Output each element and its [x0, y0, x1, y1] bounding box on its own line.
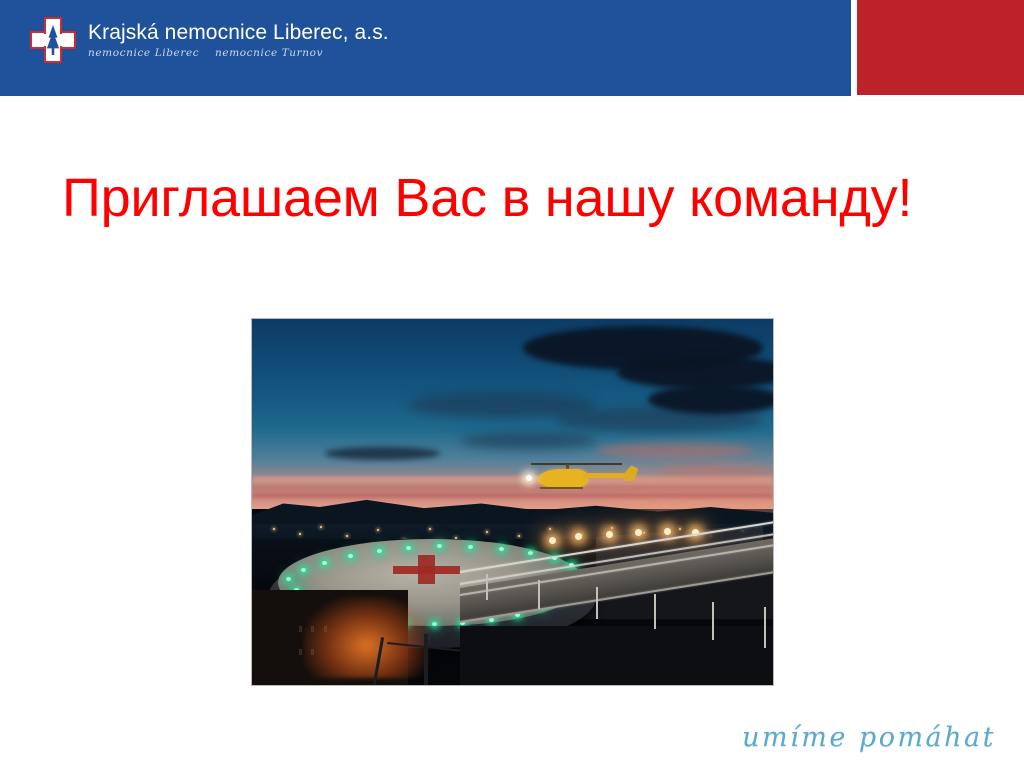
railing-post — [654, 594, 656, 629]
city-light — [320, 526, 322, 528]
helipad-red-cross-marking — [393, 555, 461, 584]
building-window — [299, 649, 302, 655]
city-light — [679, 528, 681, 530]
railing-post — [712, 602, 714, 640]
city-light — [273, 528, 275, 530]
photo-canvas — [252, 319, 773, 685]
header-red-block — [857, 0, 1024, 95]
city-light — [518, 535, 520, 537]
helipad-photo — [251, 318, 774, 686]
main-rotor — [531, 463, 622, 465]
tail-fin — [623, 465, 639, 481]
rescue-helicopter — [528, 458, 648, 491]
railing-post — [486, 574, 488, 600]
cloud — [648, 385, 773, 414]
perimeter-led — [286, 577, 291, 581]
footer-tagline: umíme pomáhat — [742, 722, 996, 753]
city-light — [429, 528, 431, 530]
brand-title: Krajská nemocnice Liberec, a.s. — [88, 21, 389, 44]
helipad-support-column — [424, 634, 428, 685]
building-window — [299, 626, 302, 632]
helicopter-fuselage — [538, 469, 588, 487]
cloud — [460, 432, 595, 448]
brand-text: Krajská nemocnice Liberec, a.s. nemocnic… — [88, 21, 389, 59]
sunset-band-2 — [252, 486, 773, 492]
presentation-slide: Krajská nemocnice Liberec, a.s. nemocnic… — [0, 0, 1024, 767]
street-light — [606, 531, 613, 538]
perimeter-led — [377, 549, 382, 553]
elevated-walkway — [460, 539, 773, 685]
warm-underlight-glow — [304, 597, 429, 678]
railing-post — [596, 587, 598, 619]
city-light — [299, 533, 301, 535]
search-light — [526, 475, 532, 481]
city-light — [346, 535, 348, 537]
brand-logo: Krajská nemocnice Liberec, a.s. nemocnic… — [30, 17, 389, 63]
street-light — [635, 529, 642, 536]
landing-skid — [540, 487, 583, 489]
sunset-band-1 — [252, 476, 773, 484]
street-light — [664, 528, 671, 535]
perimeter-led — [322, 561, 327, 565]
brand-subtitle: nemocnice Liberec nemocnice Turnov — [88, 47, 389, 59]
marking-vertical — [418, 555, 436, 584]
railing-post — [538, 580, 540, 609]
cloud — [596, 443, 752, 458]
walkway-understructure — [460, 626, 773, 685]
perimeter-led — [406, 546, 411, 550]
cloud — [617, 356, 773, 389]
cloud — [325, 447, 440, 459]
railing-post — [764, 607, 766, 648]
perimeter-led — [432, 622, 437, 626]
hospital-cross-icon — [30, 17, 76, 63]
sunset-band-3 — [252, 493, 773, 498]
slide-title: Приглашаем Вас в нашу команду! — [62, 168, 972, 228]
